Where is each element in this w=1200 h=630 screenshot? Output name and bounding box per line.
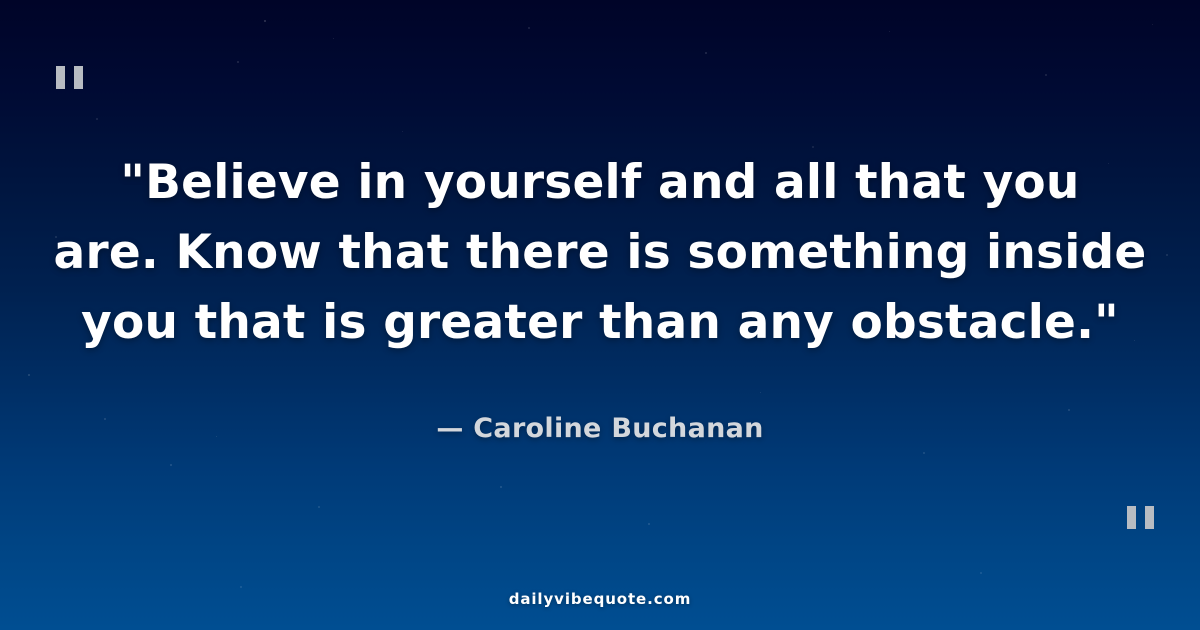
quote-attribution: — Caroline Buchanan: [436, 413, 763, 444]
footer-site-name: dailyvibequote.com: [0, 590, 1200, 608]
quote-card: "Believe in yourself and all that you ar…: [0, 0, 1200, 630]
card-content: "Believe in yourself and all that you ar…: [0, 0, 1200, 630]
quote-line: "Believe in yourself and all that you: [40, 148, 1160, 218]
quote-text: "Believe in yourself and all that you ar…: [40, 148, 1160, 358]
quote-line: you that is greater than any obstacle.": [40, 288, 1160, 358]
quote-line: are. Know that there is something inside: [40, 218, 1160, 288]
